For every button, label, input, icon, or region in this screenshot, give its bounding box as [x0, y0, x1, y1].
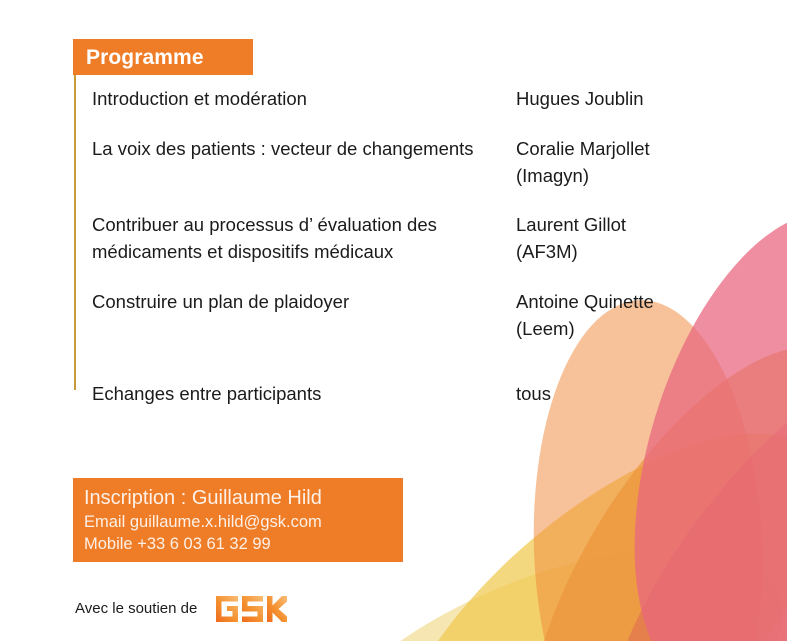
- agenda-speaker: Laurent Gillot (AF3M): [516, 211, 782, 265]
- inscription-email-line[interactable]: Email guillaume.x.hild@gsk.com: [84, 511, 403, 533]
- agenda-speaker: Antoine Quinette (Leem): [516, 288, 782, 342]
- support-text: Avec le soutien de: [75, 599, 197, 619]
- slide-canvas: Programme Introduction et modération Hug…: [0, 0, 787, 641]
- table-row: Contribuer au processus d’ évaluation de…: [92, 211, 782, 265]
- agenda-vertical-rule: [74, 75, 76, 390]
- table-row: La voix des patients : vecteur de change…: [92, 135, 782, 189]
- inscription-contact-box: Inscription : Guillaume Hild Email guill…: [73, 478, 403, 562]
- table-row: Echanges entre participants tous: [92, 380, 782, 407]
- agenda-speaker: tous: [516, 380, 782, 407]
- inscription-mobile-line: Mobile +33 6 03 61 32 99: [84, 533, 403, 555]
- agenda-speaker: Coralie Marjollet (Imagyn): [516, 135, 782, 189]
- agenda-speaker: Hugues Joublin: [516, 85, 782, 112]
- gsk-logo: [215, 596, 287, 622]
- footer: Avec le soutien de: [75, 596, 287, 622]
- table-row: Construire un plan de plaidoyer Antoine …: [92, 288, 782, 342]
- programme-title: Programme: [73, 47, 204, 68]
- inscription-title: Inscription : Guillaume Hild: [84, 486, 403, 511]
- programme-header-banner: Programme: [73, 39, 253, 75]
- agenda-topic: Introduction et modération: [92, 85, 516, 112]
- agenda-topic: Construire un plan de plaidoyer: [92, 288, 516, 315]
- table-row: Introduction et modération Hugues Joubli…: [92, 85, 782, 112]
- agenda-topic: Contribuer au processus d’ évaluation de…: [92, 211, 516, 265]
- agenda-topic: La voix des patients : vecteur de change…: [92, 135, 516, 162]
- agenda-topic: Echanges entre participants: [92, 380, 516, 407]
- programme-agenda-table: Introduction et modération Hugues Joubli…: [92, 85, 782, 407]
